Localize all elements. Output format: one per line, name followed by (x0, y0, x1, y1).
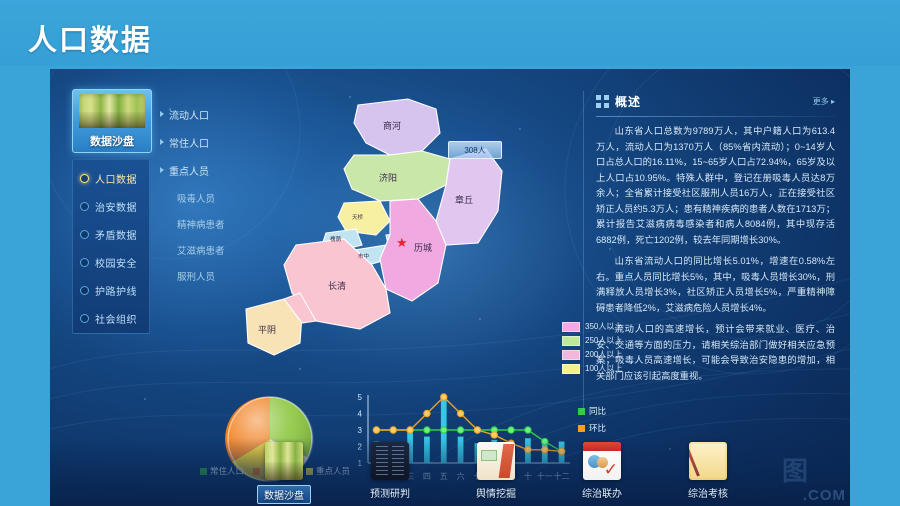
nav-item-label: 护路护线 (95, 283, 137, 298)
map-label-pingyin: 平阴 (258, 325, 276, 335)
sub-menu-label: 流动人口 (169, 107, 209, 122)
dock-label-joint: 综治联办 (568, 485, 636, 500)
triangle-bullet-icon (160, 111, 164, 117)
combo-point[interactable] (424, 427, 430, 433)
sub-menu-child-aids-patients[interactable]: 艾滋病患者 (177, 243, 240, 257)
dock-item-sandbox[interactable]: 数据沙盘 (250, 442, 318, 504)
combo-point[interactable] (373, 427, 379, 433)
nav-item-label: 矛盾数据 (95, 227, 137, 242)
dock-item-forecast[interactable]: 预测研判 (356, 442, 424, 504)
combo-point[interactable] (474, 427, 480, 433)
forecast-icon (371, 442, 409, 480)
combo-legend-item: 环比 (578, 422, 606, 434)
overview-header: 概述 更多 ▸ (596, 91, 835, 111)
map-label-shanghe: 商河 (383, 120, 401, 131)
nav-bullet-icon (80, 230, 89, 239)
triangle-bullet-icon (160, 139, 164, 145)
combo-legend-label-mom: 环比 (589, 422, 606, 434)
combo-legend-swatch-mom (578, 425, 585, 432)
nav-item-public-security[interactable]: 治安数据 (73, 192, 149, 220)
dock-item-joint-governance[interactable]: 综治联办 (568, 442, 636, 504)
combo-point[interactable] (457, 427, 463, 433)
combo-point[interactable] (508, 427, 514, 433)
assessment-icon (689, 442, 727, 480)
combo-point[interactable] (390, 427, 396, 433)
joint-governance-icon (583, 442, 621, 480)
overview-divider (596, 116, 835, 117)
sub-menu-label: 常住人口 (169, 135, 209, 150)
legend-swatch-100 (562, 364, 580, 374)
map-label-shizhong: 市中 (358, 252, 369, 260)
combo-y-tick-label: 3 (358, 426, 363, 435)
combo-point[interactable] (457, 410, 463, 416)
nav-bullet-icon (80, 314, 89, 323)
map-label-changqing: 长清 (328, 280, 346, 291)
dashboard-window: 数据沙盘 人口数据 治安数据 矛盾数据 校园安全 护路护线 (50, 69, 850, 506)
map-tooltip: 308人 (448, 141, 502, 159)
overview-panel: 概述 更多 ▸ 山东省人口总数为9789万人，其中户籍人口为613.4万人，流动… (583, 91, 835, 411)
sub-menu-child-drug-users[interactable]: 吸毒人员 (177, 191, 240, 205)
dock-label-assessment: 综治考核 (674, 485, 742, 500)
nav-bullet-icon (80, 174, 89, 183)
sandbox-icon (265, 442, 303, 480)
nav-item-label: 治安数据 (95, 199, 137, 214)
person-icon (597, 457, 608, 468)
sub-menu-child-prisoners[interactable]: 服刑人员 (177, 269, 240, 283)
watermark-text: .COM (803, 487, 846, 504)
overview-paragraph: 山东省人口总数为9789万人，其中户籍人口为613.4万人，流动人口为1370万… (596, 124, 835, 248)
map-label-jiyang: 济阳 (379, 172, 397, 183)
nav-item-label: 校园安全 (95, 255, 137, 270)
map-label-huaiyin: 槐荫 (330, 235, 342, 243)
sub-menu-item-resident-population[interactable]: 常住人口 (160, 135, 240, 150)
sub-menu-item-key-persons[interactable]: 重点人员 (160, 163, 240, 178)
capital-star-icon: ★ (396, 235, 408, 250)
opinion-mining-icon (477, 442, 515, 480)
sandbox-tile-button[interactable]: 数据沙盘 (72, 89, 152, 153)
map-label-licheng: 历城 (414, 243, 432, 253)
nav-bullet-icon (80, 202, 89, 211)
sub-menu-item-floating-population[interactable]: 流动人口 (160, 107, 240, 122)
nav-item-conflict[interactable]: 矛盾数据 (73, 220, 149, 248)
combo-y-tick-label: 5 (358, 393, 363, 402)
combo-y-tick-label: 4 (358, 410, 363, 419)
map-region-licheng (380, 199, 446, 301)
combo-point[interactable] (424, 410, 430, 416)
nav-item-label: 人口数据 (95, 171, 137, 186)
nav-item-campus-safety[interactable]: 校园安全 (73, 248, 149, 276)
dock-item-assessment[interactable]: 综治考核 (674, 442, 742, 504)
nav-item-railway-protection[interactable]: 护路护线 (73, 276, 149, 304)
combo-point[interactable] (441, 394, 447, 400)
nav-panel: 人口数据 治安数据 矛盾数据 校园安全 护路护线 社会组织 (72, 159, 150, 334)
dock-label-opinion: 舆情挖掘 (462, 485, 530, 500)
region-map[interactable]: ★ 商河 济阳 章丘 历城 长清 平阴 天桥 槐荫 市中 308人 (240, 93, 570, 368)
nav-bullet-icon (80, 286, 89, 295)
legend-swatch-350 (562, 322, 580, 332)
dock-label-forecast: 预测研判 (356, 485, 424, 500)
grid-icon (596, 95, 609, 108)
map-label-zhangqiu: 章丘 (455, 194, 473, 205)
sub-menu: 流动人口 常住人口 重点人员 吸毒人员 精神病患者 艾滋病患者 服刑人员 (160, 107, 240, 295)
combo-point[interactable] (441, 427, 447, 433)
nav-bullet-icon (80, 258, 89, 267)
overview-title: 概述 (615, 93, 641, 110)
nav-item-population[interactable]: 人口数据 (73, 164, 149, 192)
sub-menu-child-mental-patients[interactable]: 精神病患者 (177, 217, 240, 231)
watermark-mark: 图 (782, 451, 808, 488)
nav-item-social-org[interactable]: 社会组织 (73, 304, 149, 332)
overview-more-link[interactable]: 更多 ▸ (813, 96, 835, 107)
dock-label-sandbox: 数据沙盘 (257, 485, 311, 504)
overview-paragraph: 流动人口的高速增长，预计会带来就业、医疗、治安、交通等方面的压力，请相关综治部门… (596, 322, 835, 384)
left-nav-column: 数据沙盘 人口数据 治安数据 矛盾数据 校园安全 护路护线 (72, 89, 150, 334)
legend-swatch-250 (562, 336, 580, 346)
sandbox-thumbnail-icon (79, 94, 145, 128)
bottom-dock: 数据沙盘 预测研判 舆情挖掘 综治联办 综治考核 (50, 438, 850, 506)
overview-paragraph: 山东省流动人口的同比增长5.01%，增速在0.58%左右。重点人员同比增长5%，… (596, 254, 835, 316)
page-header: 人口数据 (0, 0, 900, 66)
sandbox-tile-label: 数据沙盘 (73, 133, 151, 149)
dock-item-opinion-mining[interactable]: 舆情挖掘 (462, 442, 530, 504)
combo-point[interactable] (525, 427, 531, 433)
sub-menu-label: 重点人员 (169, 163, 209, 178)
page-title: 人口数据 (28, 17, 152, 59)
region-map-svg[interactable]: ★ 商河 济阳 章丘 历城 长清 平阴 天桥 槐荫 市中 (240, 93, 570, 368)
triangle-bullet-icon (160, 167, 164, 173)
combo-point[interactable] (407, 427, 413, 433)
map-label-tianqiao: 天桥 (352, 213, 364, 221)
nav-item-label: 社会组织 (95, 311, 137, 326)
legend-swatch-200 (562, 350, 580, 360)
